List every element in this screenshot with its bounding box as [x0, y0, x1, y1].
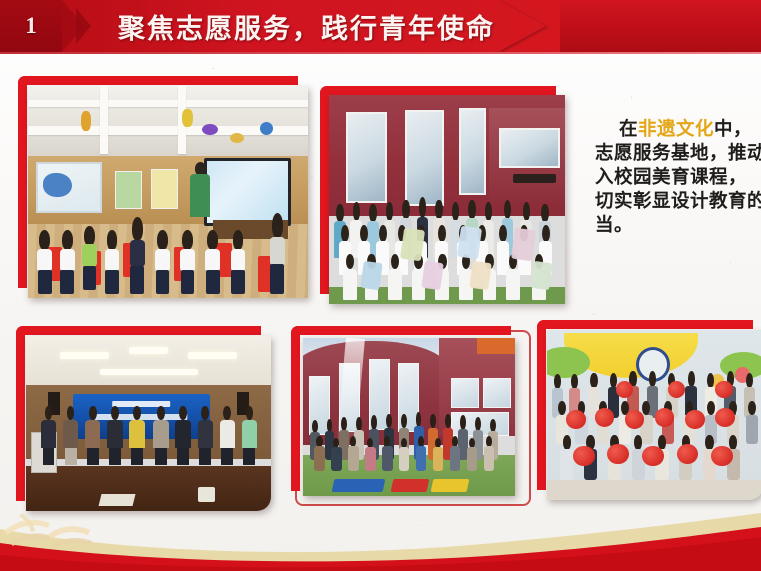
figure-head: [157, 406, 165, 420]
photo-classroom-lecture[interactable]: [28, 86, 308, 298]
figure-head: [369, 204, 376, 222]
decoration-icon: [81, 111, 91, 131]
figure-legs: [231, 270, 244, 294]
figure-body: [348, 446, 359, 470]
figure-body: [365, 447, 376, 470]
figure-head: [272, 213, 283, 238]
child-figure: [449, 436, 460, 471]
child-figure: [36, 230, 53, 294]
slide-number: 1: [0, 0, 62, 52]
figure-body: [450, 446, 461, 470]
person-figure: [198, 406, 214, 466]
child-figure: [343, 254, 357, 300]
photo-frame-1: [18, 76, 308, 298]
figure-legs: [181, 270, 194, 294]
banner-arrow-point: [498, 0, 546, 52]
chevron-right-icon-secondary: [76, 8, 91, 44]
figure-head: [353, 202, 360, 221]
figure-body: [484, 446, 495, 470]
figure-head: [705, 435, 713, 450]
figure-head: [523, 202, 530, 221]
figure-head: [430, 414, 436, 429]
photo-frame-5: [537, 320, 761, 500]
figure-body: [60, 249, 75, 272]
figure-body: [270, 237, 285, 266]
figure-body: [220, 420, 236, 449]
figure-head: [475, 417, 481, 431]
figure-head: [111, 406, 119, 420]
pompom-prop: [573, 446, 595, 466]
window: [483, 378, 510, 408]
figure-head: [634, 435, 642, 450]
child-figure: [381, 436, 392, 471]
figure-head: [438, 225, 446, 242]
figure-body: [105, 249, 120, 272]
figure-head: [554, 374, 561, 389]
child-figure: [506, 254, 520, 300]
figure-head: [490, 419, 496, 432]
figure-body: [107, 420, 123, 449]
pompom-prop: [595, 408, 614, 427]
pompom-prop: [711, 446, 733, 466]
body-text-line-1: 在非遗文化中，: [595, 118, 761, 142]
figure-head: [312, 420, 318, 433]
figure-body: [37, 249, 52, 272]
person-figure: [85, 406, 101, 466]
figure-head: [62, 230, 73, 250]
ceiling: [28, 86, 308, 156]
body-text-block: 在非遗文化中， 志愿服务基地，推动 入校园美育课程， 切实彰显设计教育的 当。: [595, 118, 761, 238]
figure-head: [452, 202, 459, 221]
child-figure: [59, 230, 76, 294]
body-text-line-4: 切实彰显设计教育的: [595, 190, 761, 214]
figure-head: [468, 200, 475, 220]
figure-head: [707, 373, 714, 388]
figure-head: [419, 197, 426, 218]
photo-outdoor-group[interactable]: [303, 338, 515, 496]
figure-body: [180, 249, 195, 272]
photo-frame-2: [320, 86, 565, 304]
figure-head: [401, 414, 407, 429]
figure-head: [563, 435, 571, 450]
figure-body: [433, 447, 444, 470]
child-figure: [746, 401, 759, 444]
figure-body: [129, 420, 145, 449]
ceiling-light: [188, 352, 237, 359]
pompom-prop: [566, 410, 585, 429]
figure-legs: [105, 270, 118, 294]
kite-artwork: [457, 225, 482, 259]
figure-body: [560, 449, 573, 479]
figure-body: [130, 240, 145, 267]
figure-head: [346, 254, 354, 270]
figure-body: [382, 446, 393, 470]
person-figure: [41, 406, 57, 466]
figure-legs: [43, 448, 55, 466]
window: [405, 110, 444, 206]
figure-head: [729, 435, 737, 450]
title-underline-divider: [0, 52, 761, 54]
person-figure: [242, 406, 258, 466]
child-figure: [81, 226, 98, 290]
figure-body: [399, 447, 410, 470]
figure-head: [132, 217, 143, 241]
figure-legs: [87, 448, 99, 466]
figure-body: [85, 420, 101, 449]
figure-body: [467, 447, 478, 470]
child-figure: [560, 435, 574, 479]
figure-head: [327, 419, 333, 432]
figure-body: [416, 446, 427, 470]
figure-head: [386, 202, 393, 221]
figure-head: [89, 406, 97, 420]
ceiling-beam: [28, 100, 308, 107]
figure-legs: [155, 448, 167, 466]
figure-head: [67, 406, 75, 420]
figure-body: [231, 249, 246, 272]
figure-legs: [270, 264, 283, 294]
ceiling-beam: [100, 86, 108, 154]
figure-head: [201, 406, 209, 420]
child-figure: [364, 438, 375, 471]
person-figure: [220, 406, 236, 466]
figure-head: [157, 230, 168, 250]
figure-body: [198, 420, 214, 449]
child-figure: [230, 230, 247, 294]
child-figure: [269, 213, 286, 294]
figure-head: [246, 406, 254, 420]
figure-head: [371, 415, 377, 429]
ceiling-light: [100, 369, 198, 374]
figure-head: [182, 230, 193, 250]
figure-head: [223, 406, 231, 420]
decoration-icon: [202, 124, 218, 135]
figure-head: [748, 401, 756, 415]
photo-frame-3: [16, 326, 271, 511]
figure-body: [41, 420, 57, 449]
roof-accent: [477, 338, 515, 354]
figure-head: [356, 417, 362, 431]
ceiling-light: [60, 352, 109, 359]
figure-body: [506, 269, 520, 300]
child-figure: [129, 217, 146, 293]
child-figure: [483, 436, 494, 471]
figure-body: [82, 244, 97, 267]
pompom-prop: [715, 381, 732, 398]
artwork-shape: [43, 173, 71, 197]
figure-head: [402, 200, 409, 220]
child-figure: [331, 438, 342, 471]
figure-head: [133, 406, 141, 420]
person-figure: [63, 406, 79, 466]
figure-legs: [65, 448, 77, 466]
figure-head: [207, 230, 218, 250]
bottom-decorative-wave: [0, 499, 761, 571]
wall-poster: [151, 169, 178, 209]
slide-root: 1 聚焦志愿服务，践行青年使命: [0, 0, 761, 571]
figure-head: [341, 225, 349, 242]
figure-body: [388, 269, 402, 300]
figure-head: [571, 374, 578, 389]
figure-head: [746, 373, 753, 388]
figure-body: [63, 420, 79, 449]
child-figure: [348, 436, 359, 471]
figure-head: [649, 371, 656, 387]
window: [499, 128, 560, 168]
child-figure: [415, 436, 426, 471]
figure-body: [242, 420, 258, 449]
figure-body: [153, 420, 169, 449]
child-figure: [314, 436, 325, 471]
figure-legs: [38, 270, 51, 294]
kite-artwork: [530, 261, 552, 291]
floor: [547, 480, 761, 500]
photo-signing-ceremony[interactable]: [26, 336, 271, 511]
photo-frame-4: [291, 326, 531, 506]
figure-head: [107, 230, 118, 250]
figure-head: [590, 373, 597, 388]
pompom-prop: [685, 410, 704, 429]
highlighted-keyword: 非遗文化: [638, 119, 714, 140]
figure-body: [314, 446, 325, 470]
pompom-prop: [625, 410, 644, 429]
figure-head: [416, 412, 422, 427]
decoration-icon: [230, 133, 244, 143]
figure-legs: [109, 448, 121, 466]
child-figure: [204, 230, 221, 294]
decoration-icon: [182, 109, 193, 127]
figure-head: [435, 200, 442, 220]
figure-head: [504, 200, 511, 220]
wall-poster: [115, 171, 142, 209]
figure-head: [179, 406, 187, 420]
figure-body: [155, 249, 170, 272]
figure-head: [642, 401, 650, 415]
figure-legs: [60, 270, 73, 294]
floor-mat-red: [391, 479, 430, 492]
figure-legs: [221, 448, 233, 466]
figure-head: [688, 371, 695, 387]
figure-head: [84, 226, 95, 246]
window: [459, 108, 487, 196]
figure-head: [541, 204, 548, 222]
child-figure: [179, 230, 196, 294]
child-figure: [432, 438, 443, 471]
figure-body: [175, 420, 191, 449]
figure-head: [499, 225, 507, 242]
window: [451, 378, 478, 408]
figure-head: [386, 414, 392, 429]
child-figure: [104, 230, 121, 294]
person-figure: [129, 406, 145, 466]
body-text-line-3: 入校园美育课程，: [595, 166, 761, 190]
figure-head: [391, 254, 399, 270]
body-text-post: 中，: [714, 119, 752, 140]
figure-legs: [130, 266, 143, 294]
pompom-prop: [642, 446, 664, 466]
child-figure: [154, 230, 171, 294]
ceiling-light: [129, 347, 168, 354]
ceiling: [26, 336, 271, 389]
figure-body: [205, 249, 220, 272]
figure-head: [233, 230, 244, 250]
kite-artwork: [360, 261, 382, 291]
figure-head: [39, 230, 50, 250]
photo-children-pompoms[interactable]: [547, 330, 761, 500]
figure-legs: [206, 270, 219, 294]
body-text-line-5: 当。: [595, 214, 761, 238]
floor-mat-blue: [331, 479, 385, 492]
person-figure: [175, 406, 191, 466]
teacher-figure: [190, 162, 210, 217]
figure-head: [341, 417, 347, 431]
figure-legs: [131, 448, 143, 466]
figure-body: [746, 415, 758, 444]
pompom-prop: [715, 408, 734, 427]
kite-artwork: [469, 261, 491, 291]
figure-head: [360, 225, 368, 242]
figure-head: [45, 406, 53, 420]
body-text-pre: 在: [619, 119, 638, 140]
figure-head: [379, 225, 387, 242]
figure-legs: [177, 448, 189, 466]
figure-legs: [156, 270, 169, 294]
figure-body: [190, 174, 210, 217]
bottom-wave-svg: [0, 499, 761, 571]
photo-school-group-kites[interactable]: [329, 95, 565, 304]
person-figure: [107, 406, 123, 466]
figure-head: [542, 225, 550, 242]
figure-head: [485, 202, 492, 221]
window: [346, 112, 388, 204]
figure-legs: [83, 266, 96, 290]
child-figure: [398, 438, 409, 471]
figure-head: [445, 414, 451, 429]
child-figure: [466, 438, 477, 471]
figure-legs: [243, 448, 255, 466]
figure-head: [707, 401, 715, 415]
figure-head: [558, 401, 566, 415]
title-banner: 1 聚焦志愿服务，践行青年使命: [0, 0, 761, 52]
figure-legs: [199, 448, 211, 466]
figure-body: [331, 447, 342, 470]
figure-head: [460, 415, 466, 429]
body-text-line-2: 志愿服务基地，推动: [595, 142, 761, 166]
figure-head: [336, 204, 343, 222]
figure-body: [343, 269, 357, 300]
person-figure: [153, 406, 169, 466]
page-title: 聚焦志愿服务，践行青年使命: [118, 0, 495, 52]
floor-mat-yellow: [431, 479, 470, 492]
child-figure: [388, 254, 402, 300]
awning: [513, 174, 555, 182]
wall-artwork-board: [36, 162, 102, 213]
